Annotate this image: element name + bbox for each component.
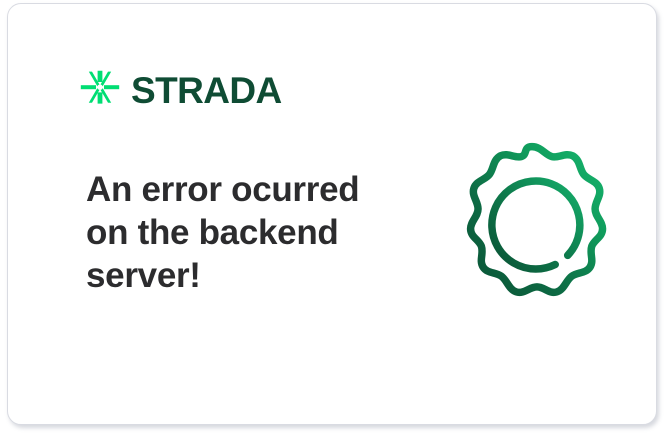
gear-cog-icon <box>449 140 615 306</box>
gear-illustration <box>449 140 615 306</box>
error-headline: An error ocurred on the backend server! <box>86 168 386 297</box>
brand-wordmark: STRADA <box>131 72 282 109</box>
error-card: STRADA An error ocurred on the backend s… <box>7 3 657 425</box>
strada-asterisk-icon <box>80 70 120 110</box>
brand-logo: STRADA <box>80 70 282 110</box>
error-page: STRADA An error ocurred on the backend s… <box>0 0 666 436</box>
